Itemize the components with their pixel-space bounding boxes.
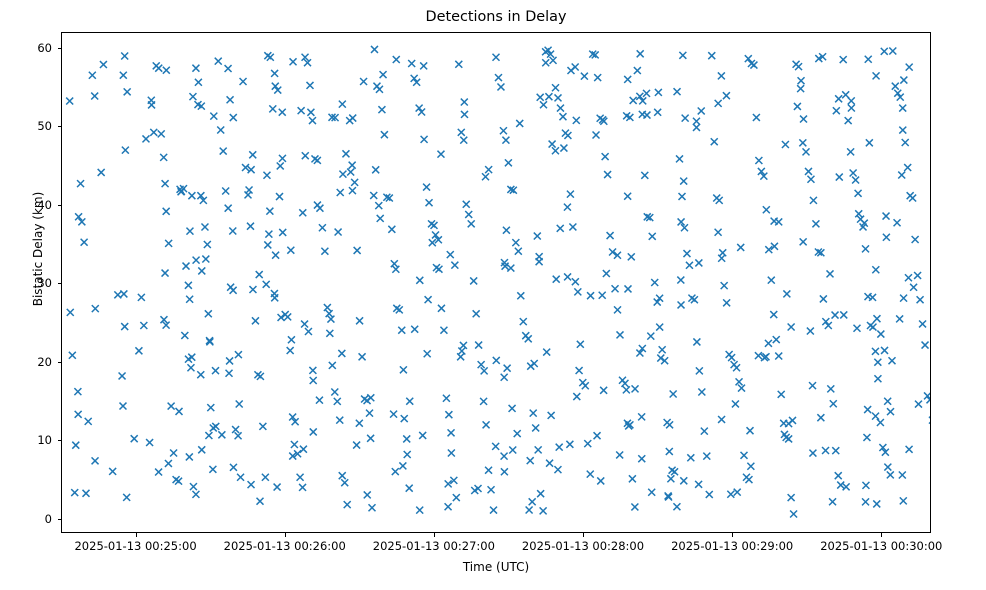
scatter-point (331, 389, 338, 396)
scatter-point (785, 420, 792, 427)
scatter-point (602, 153, 609, 160)
scatter-point (817, 414, 824, 421)
scatter-point (277, 162, 284, 169)
scatter-point (837, 482, 844, 489)
scatter-point (458, 348, 465, 355)
y-tick-mark (58, 440, 62, 441)
scatter-point (715, 100, 722, 107)
scatter-point (902, 139, 909, 146)
y-tick-mark (58, 126, 62, 127)
scatter-point (400, 366, 407, 373)
scatter-point (529, 498, 536, 505)
scatter-point (257, 373, 264, 380)
scatter-point (197, 371, 204, 378)
scatter-point (631, 503, 638, 510)
scatter-point (567, 191, 574, 198)
scatter-point (912, 236, 919, 243)
scatter-point (440, 327, 447, 334)
scatter-point (693, 118, 700, 125)
scatter-point (552, 84, 559, 91)
scatter-point (263, 281, 270, 288)
scatter-point (711, 138, 718, 145)
scatter-point (795, 63, 802, 70)
scatter-point (517, 292, 524, 299)
scatter-point (736, 378, 743, 385)
scatter-point (716, 197, 723, 204)
scatter-point (917, 296, 924, 303)
scatter-point (451, 262, 458, 269)
scatter-point (630, 97, 637, 104)
scatter-point (71, 489, 78, 496)
scatter-point (212, 423, 219, 430)
scatter-point (505, 159, 512, 166)
scatter-point (909, 195, 916, 202)
scatter-point (411, 326, 418, 333)
scatter-point (235, 351, 242, 358)
scatter-point (416, 507, 423, 514)
scatter-point (649, 233, 656, 240)
scatter-point (721, 282, 728, 289)
scatter-point (827, 270, 834, 277)
scatter-point (230, 464, 237, 471)
scatter-point (480, 398, 487, 405)
scatter-point (900, 497, 907, 504)
scatter-point (356, 317, 363, 324)
scatter-point (279, 155, 286, 162)
scatter-point (215, 58, 222, 65)
scatter-point (526, 507, 533, 514)
scatter-point (840, 311, 847, 318)
scatter-point (832, 312, 839, 319)
x-tick-mark (434, 533, 435, 537)
scatter-point (822, 447, 829, 454)
scatter-point (336, 417, 343, 424)
scatter-point (582, 382, 589, 389)
scatter-point (862, 482, 869, 489)
scatter-point (648, 489, 655, 496)
scatter-point (643, 90, 650, 97)
scatter-point (799, 139, 806, 146)
scatter-point (682, 115, 689, 122)
scatter-point (284, 313, 291, 320)
scatter-point (290, 58, 297, 65)
scatter-point (274, 484, 281, 491)
y-tick-label: 30 (12, 276, 52, 290)
scatter-point (647, 333, 654, 340)
scatter-point (158, 130, 165, 137)
scatter-point (335, 229, 342, 236)
scatter-point (155, 469, 162, 476)
scatter-point (537, 490, 544, 497)
scatter-point (392, 468, 399, 475)
scatter-point (310, 428, 317, 435)
scatter-point (874, 375, 881, 382)
scatter-point (168, 403, 175, 410)
scatter-point (229, 228, 236, 235)
scatter-point (360, 78, 367, 85)
scatter-point (659, 346, 666, 353)
scatter-point (347, 169, 354, 176)
scatter-point (236, 401, 243, 408)
scatter-point (677, 277, 684, 284)
y-axis-label: Bistatic Delay (km) (31, 149, 45, 349)
scatter-point (763, 206, 770, 213)
scatter-point (576, 367, 583, 374)
scatter-point (291, 441, 298, 448)
scatter-point (349, 162, 356, 169)
scatter-point (680, 178, 687, 185)
scatter-point (545, 93, 552, 100)
scatter-point (515, 248, 522, 255)
scatter-point (460, 137, 467, 144)
scatter-point (535, 446, 542, 453)
scatter-point (873, 315, 880, 322)
scatter-point (408, 60, 415, 67)
scatter-point (540, 507, 547, 514)
scatter-series (62, 33, 930, 532)
scatter-point (81, 239, 88, 246)
scatter-point (771, 218, 778, 225)
scatter-point (750, 62, 757, 69)
scatter-point (734, 489, 741, 496)
scatter-point (572, 278, 579, 285)
scatter-point (424, 350, 431, 357)
scatter-point (872, 266, 879, 273)
scatter-point (581, 73, 588, 80)
scatter-point (898, 172, 905, 179)
scatter-point (587, 292, 594, 299)
scatter-point (741, 452, 748, 459)
scatter-point (514, 430, 521, 437)
scatter-point (788, 494, 795, 501)
scatter-point (302, 152, 309, 159)
scatter-point (667, 475, 674, 482)
scatter-point (531, 360, 538, 367)
scatter-point (905, 274, 912, 281)
scatter-point (564, 273, 571, 280)
scatter-point (186, 228, 193, 235)
scatter-point (501, 453, 508, 460)
scatter-point (470, 277, 477, 284)
scatter-point (679, 193, 686, 200)
scatter-point (264, 241, 271, 248)
scatter-point (894, 219, 901, 226)
scatter-point (165, 460, 172, 467)
scatter-point (497, 83, 504, 90)
scatter-point (391, 260, 398, 267)
scatter-point (543, 349, 550, 356)
y-tick-mark (58, 283, 62, 284)
scatter-point (419, 432, 426, 439)
scatter-point (461, 111, 468, 118)
scatter-point (468, 220, 475, 227)
scatter-point (420, 62, 427, 69)
scatter-point (862, 245, 869, 252)
scatter-point (830, 400, 837, 407)
scatter-point (597, 477, 604, 484)
scatter-point (881, 48, 888, 55)
scatter-point (560, 145, 567, 152)
scatter-point (435, 266, 442, 273)
x-tick-label: 2025-01-13 00:29:00 (671, 539, 793, 553)
scatter-point (691, 296, 698, 303)
scatter-point (339, 101, 346, 108)
scatter-point (146, 439, 153, 446)
scatter-point (723, 92, 730, 99)
scatter-point (367, 435, 374, 442)
scatter-point (195, 79, 202, 86)
scatter-point (192, 65, 199, 72)
scatter-point (461, 99, 468, 106)
scatter-point (850, 170, 857, 177)
scatter-point (235, 432, 242, 439)
scatter-point (872, 348, 879, 355)
scatter-point (448, 429, 455, 436)
scatter-point (848, 105, 855, 112)
scatter-point (119, 403, 126, 410)
scatter-point (874, 359, 881, 366)
y-tick-label: 60 (12, 41, 52, 55)
scatter-point (715, 229, 722, 236)
scatter-point (680, 477, 687, 484)
scatter-point (753, 114, 760, 121)
scatter-point (603, 270, 610, 277)
scatter-point (98, 169, 105, 176)
scatter-point (75, 411, 82, 418)
scatter-point (183, 263, 190, 270)
scatter-point (853, 325, 860, 332)
scatter-point (553, 276, 560, 283)
scatter-point (237, 474, 244, 481)
scatter-point (119, 372, 126, 379)
scatter-point (698, 107, 705, 114)
scatter-point (809, 382, 816, 389)
scatter-point (344, 501, 351, 508)
scatter-point (187, 364, 194, 371)
scatter-point (305, 328, 312, 335)
scatter-point (485, 467, 492, 474)
scatter-point (755, 157, 762, 164)
scatter-point (607, 232, 614, 239)
scatter-point (892, 83, 899, 90)
scatter-point (262, 474, 269, 481)
scatter-point (372, 166, 379, 173)
scatter-point (124, 88, 131, 95)
scatter-point (92, 457, 99, 464)
scatter-point (628, 253, 635, 260)
scatter-point (371, 46, 378, 53)
scatter-point (678, 301, 685, 308)
scatter-point (877, 331, 884, 338)
scatter-point (794, 103, 801, 110)
scatter-point (457, 353, 464, 360)
scatter-point (278, 314, 285, 321)
scatter-point (587, 471, 594, 478)
scatter-point (249, 151, 256, 158)
scatter-point (624, 285, 631, 292)
scatter-point (687, 454, 694, 461)
scatter-point (353, 442, 360, 449)
scatter-point (212, 367, 219, 374)
x-tick-mark (583, 533, 584, 537)
scatter-point (674, 88, 681, 95)
scatter-point (109, 468, 116, 475)
y-tick-label: 40 (12, 198, 52, 212)
scatter-point (100, 61, 107, 68)
scatter-point (232, 426, 239, 433)
scatter-point (833, 107, 840, 114)
scatter-point (887, 408, 894, 415)
scatter-point (900, 295, 907, 302)
scatter-point (226, 370, 233, 377)
scatter-point (617, 331, 624, 338)
scatter-point (676, 155, 683, 162)
scatter-point (530, 410, 537, 417)
scatter-point (782, 141, 789, 148)
scatter-point (406, 398, 413, 405)
scatter-point (131, 435, 138, 442)
scatter-point (855, 210, 862, 217)
scatter-point (381, 131, 388, 138)
scatter-point (566, 441, 573, 448)
scatter-point (537, 94, 544, 101)
scatter-point (310, 377, 317, 384)
scatter-point (638, 455, 645, 462)
scatter-point (683, 250, 690, 257)
scatter-point (670, 391, 677, 398)
scatter-point (188, 192, 195, 199)
scatter-point (845, 117, 852, 124)
scatter-point (679, 52, 686, 59)
scatter-point (686, 262, 693, 269)
scatter-point (807, 176, 814, 183)
scatter-point (889, 357, 896, 364)
scatter-point (573, 117, 580, 124)
scatter-point (349, 187, 356, 194)
scatter-point (257, 498, 264, 505)
x-tick-label: 2025-01-13 00:25:00 (74, 539, 196, 553)
scatter-point (718, 416, 725, 423)
scatter-point (536, 253, 543, 260)
scatter-point (708, 52, 715, 59)
scatter-point (624, 76, 631, 83)
scatter-point (807, 328, 814, 335)
scatter-point (246, 187, 253, 194)
scatter-point (339, 472, 346, 479)
scatter-point (810, 197, 817, 204)
scatter-point (555, 94, 562, 101)
scatter-point (864, 406, 871, 413)
scatter-point (445, 411, 452, 418)
scatter-point (123, 494, 130, 501)
scatter-point (552, 147, 559, 154)
scatter-point (287, 347, 294, 354)
scatter-point (516, 120, 523, 127)
scatter-point (873, 72, 880, 79)
scatter-point (906, 64, 913, 71)
scatter-point (326, 310, 333, 317)
scatter-point (321, 248, 328, 255)
scatter-point (632, 385, 639, 392)
scatter-point (527, 457, 534, 464)
scatter-point (367, 394, 374, 401)
scatter-point (593, 132, 600, 139)
scatter-point (869, 324, 876, 331)
scatter-point (392, 266, 399, 273)
y-tick-label: 0 (12, 512, 52, 526)
scatter-point (398, 327, 405, 334)
scatter-point (621, 380, 628, 387)
scatter-point (249, 286, 256, 293)
scatter-point (463, 201, 470, 208)
scatter-point (138, 294, 145, 301)
matplotlib-figure: Detections in Delay Bistatic Delay (km) … (0, 0, 986, 590)
scatter-point (378, 106, 385, 113)
scatter-point (899, 127, 906, 134)
scatter-point (421, 136, 428, 143)
scatter-point (549, 141, 556, 148)
scatter-point (812, 220, 819, 227)
scatter-point (695, 481, 702, 488)
scatter-point (326, 330, 333, 337)
scatter-point (493, 357, 500, 364)
scatter-point (564, 204, 571, 211)
scatter-point (170, 450, 177, 457)
scatter-point (399, 462, 406, 469)
x-tick-label: 2025-01-13 00:27:00 (373, 539, 495, 553)
scatter-point (222, 188, 229, 195)
scatter-point (501, 374, 508, 381)
scatter-point (256, 271, 263, 278)
scatter-point (186, 296, 193, 303)
scatter-point (150, 129, 157, 136)
scatter-point (220, 148, 227, 155)
scatter-point (226, 357, 233, 364)
scatter-point (473, 310, 480, 317)
scatter-point (198, 446, 205, 453)
scatter-point (209, 466, 216, 473)
scatter-point (873, 500, 880, 507)
scatter-point (556, 444, 563, 451)
scatter-point (329, 362, 336, 369)
scatter-point (287, 247, 294, 254)
scatter-point (865, 56, 872, 63)
scatter-point (624, 193, 631, 200)
scatter-point (904, 164, 911, 171)
y-tick-label: 20 (12, 355, 52, 369)
scatter-point (404, 451, 411, 458)
scatter-point (162, 270, 169, 277)
scatter-point (266, 208, 273, 215)
scatter-point (872, 413, 879, 420)
scatter-point (140, 322, 147, 329)
scatter-point (747, 427, 754, 434)
scatter-point (835, 95, 842, 102)
scatter-point (403, 435, 410, 442)
scatter-point (67, 309, 74, 316)
scatter-point (265, 231, 272, 238)
scatter-point (803, 148, 810, 155)
scatter-point (122, 147, 129, 154)
scatter-point (883, 234, 890, 241)
scatter-point (889, 48, 896, 55)
scatter-point (359, 353, 366, 360)
scatter-point (192, 491, 199, 498)
scatter-point (693, 338, 700, 345)
scatter-point (142, 135, 149, 142)
scatter-point (852, 177, 859, 184)
scatter-point (240, 78, 247, 85)
